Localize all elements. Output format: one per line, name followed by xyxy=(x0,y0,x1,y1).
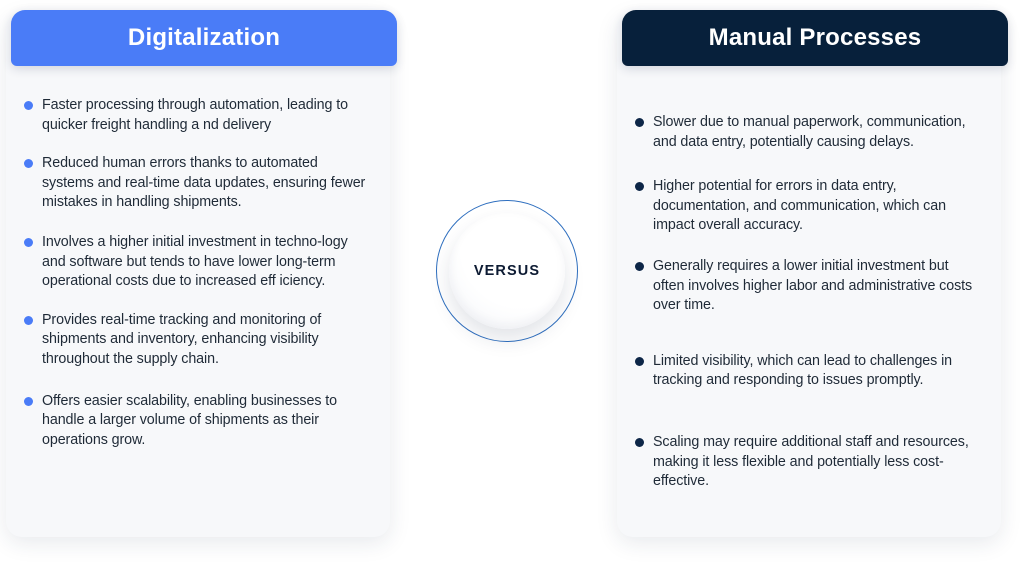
list-item-text: Reduced human errors thanks to automated… xyxy=(42,154,368,213)
digitalization-bullet-list: Faster processing through automation, le… xyxy=(6,82,390,529)
list-item: Offers easier scalability, enabling busi… xyxy=(24,392,368,451)
list-item-text: Limited visibility, which can lead to ch… xyxy=(653,352,979,391)
list-item-text: Slower due to manual paperwork, communic… xyxy=(653,113,979,152)
digitalization-header: Digitalization xyxy=(11,10,397,66)
list-item: Limited visibility, which can lead to ch… xyxy=(635,352,979,391)
list-item: Reduced human errors thanks to automated… xyxy=(24,154,368,213)
list-item: Slower due to manual paperwork, communic… xyxy=(635,113,979,152)
list-item: Provides real-time tracking and monitori… xyxy=(24,311,368,370)
list-item: Generally requires a lower initial inves… xyxy=(635,257,979,316)
bullet-dot-icon xyxy=(24,101,33,110)
bullet-dot-icon xyxy=(635,262,644,271)
comparison-infographic: Digitalization Faster processing through… xyxy=(0,0,1024,565)
versus-badge: VERSUS xyxy=(436,200,578,342)
list-item: Involves a higher initial investment in … xyxy=(24,233,368,292)
list-item: Faster processing through automation, le… xyxy=(24,96,368,135)
manual-processes-title: Manual Processes xyxy=(709,26,922,50)
versus-badge-inner: VERSUS xyxy=(449,213,565,329)
list-item-text: Generally requires a lower initial inves… xyxy=(653,257,979,316)
bullet-dot-icon xyxy=(24,238,33,247)
bullet-dot-icon xyxy=(24,159,33,168)
bullet-dot-icon xyxy=(635,357,644,366)
list-item-text: Faster processing through automation, le… xyxy=(42,96,368,135)
manual-processes-header: Manual Processes xyxy=(622,10,1008,66)
bullet-dot-icon xyxy=(635,182,644,191)
list-item-text: Higher potential for errors in data entr… xyxy=(653,177,979,236)
digitalization-title: Digitalization xyxy=(128,26,280,50)
bullet-dot-icon xyxy=(635,438,644,447)
list-item-text: Scaling may require additional staff and… xyxy=(653,433,979,492)
list-item: Scaling may require additional staff and… xyxy=(635,433,979,492)
list-item: Higher potential for errors in data entr… xyxy=(635,177,979,236)
list-item-text: Provides real-time tracking and monitori… xyxy=(42,311,368,370)
manual-processes-bullet-list: Slower due to manual paperwork, communic… xyxy=(617,82,1001,529)
bullet-dot-icon xyxy=(24,397,33,406)
bullet-dot-icon xyxy=(24,316,33,325)
list-item-text: Offers easier scalability, enabling busi… xyxy=(42,392,368,451)
versus-label: VERSUS xyxy=(474,263,540,279)
bullet-dot-icon xyxy=(635,118,644,127)
manual-processes-card: Manual Processes Slower due to manual pa… xyxy=(617,12,1001,537)
digitalization-card: Digitalization Faster processing through… xyxy=(6,12,390,537)
list-item-text: Involves a higher initial investment in … xyxy=(42,233,368,292)
